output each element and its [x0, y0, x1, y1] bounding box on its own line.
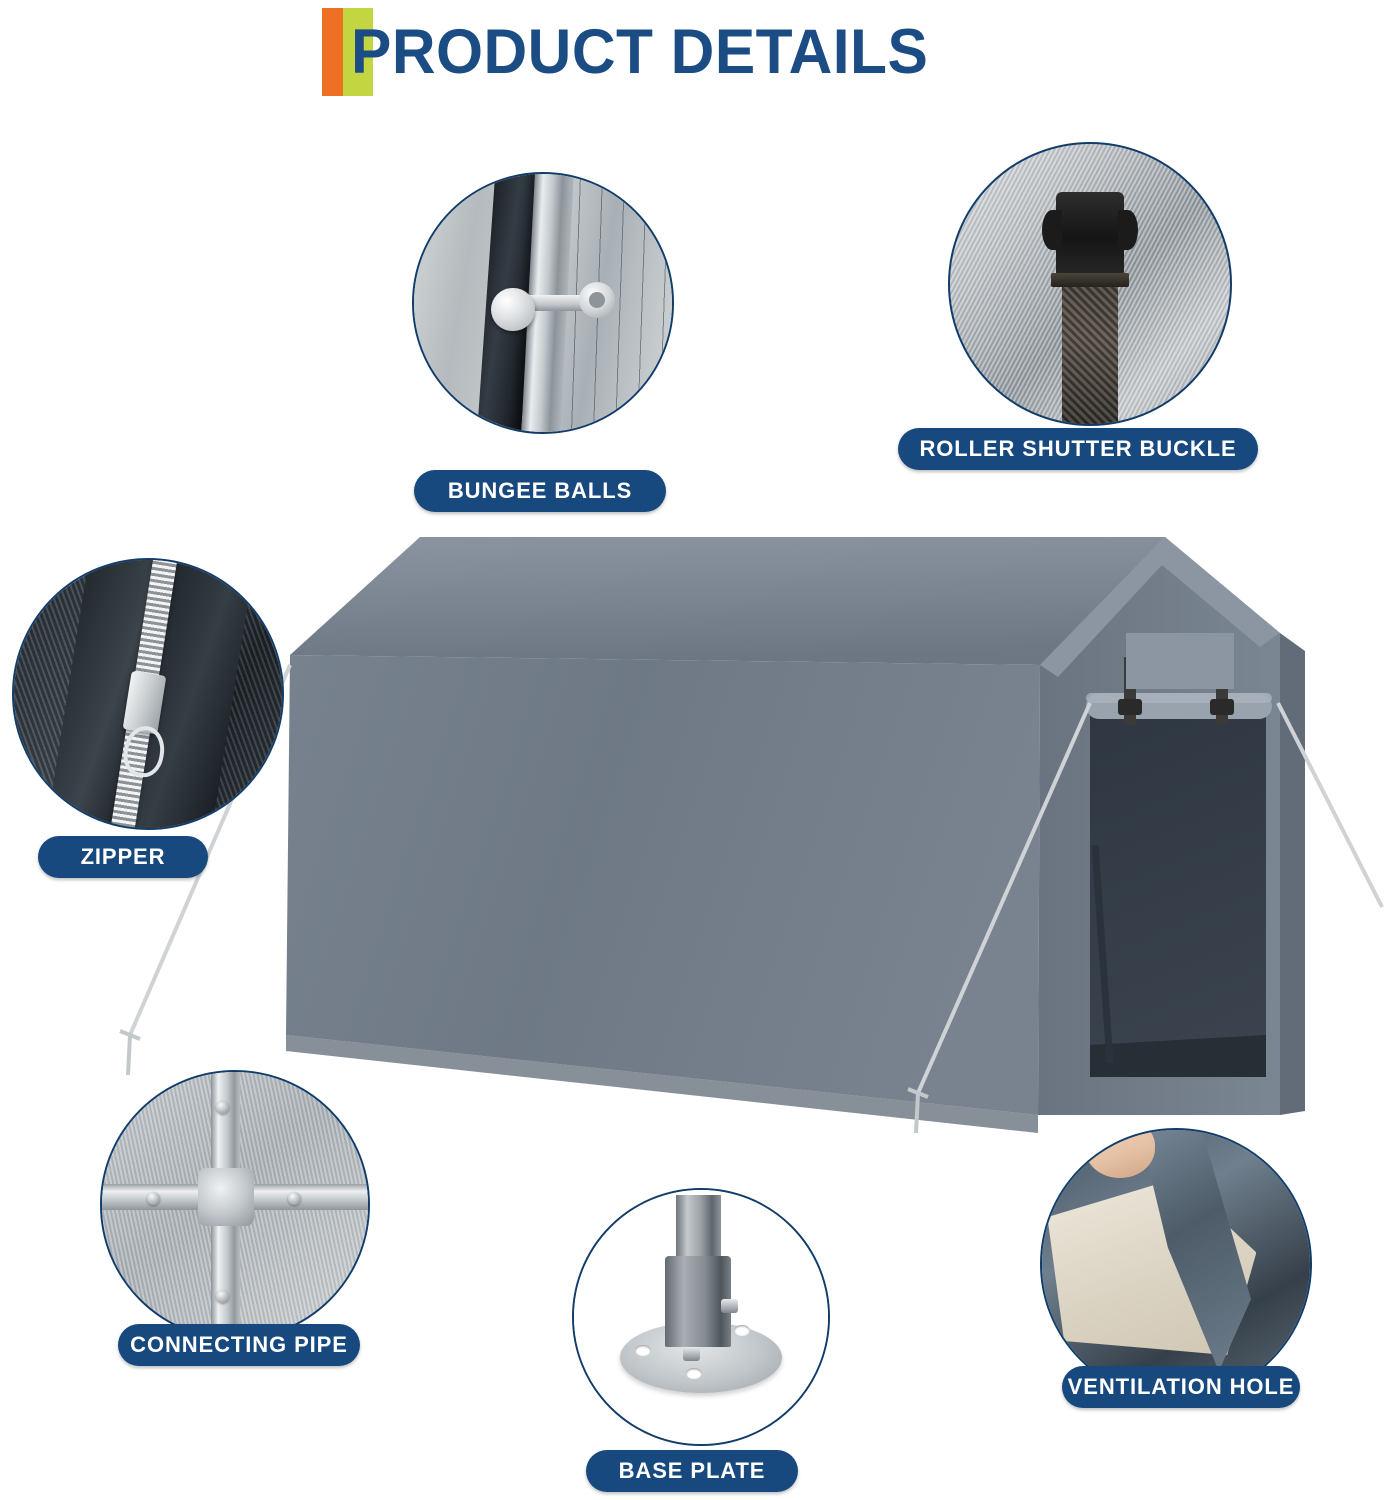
shed-side-wall — [286, 655, 1040, 1115]
detail-photo-bungee-balls — [412, 172, 674, 434]
buckle-adjuster-bar — [1051, 273, 1129, 287]
product-details-page: PRODUCT DETAILS — [0, 0, 1392, 1500]
shed-door-opening — [1090, 715, 1266, 1077]
callout-label-ventilation-hole: VENTILATION HOLE — [1062, 1366, 1300, 1408]
callout-label-roller-shutter-buckle: ROLLER SHUTTER BUCKLE — [898, 428, 1258, 470]
screw-left — [147, 1192, 160, 1205]
detail-photo-roller-shutter-buckle — [948, 142, 1232, 426]
detail-photo-zipper — [12, 558, 284, 830]
side-release-buckle — [1056, 192, 1123, 276]
cross-connector-hub — [198, 1168, 254, 1227]
sleeve-bolt-front — [683, 1347, 700, 1361]
door-buckle-left — [1118, 699, 1142, 715]
rolled-door-highlight — [1086, 693, 1272, 703]
page-title: PRODUCT DETAILS — [351, 8, 928, 96]
base-plate-scene — [574, 1190, 828, 1444]
callout-label-connecting-pipe: CONNECTING PIPE — [118, 1324, 360, 1366]
shed-right-edge — [1280, 633, 1305, 1115]
anchor-hole-left — [635, 1345, 651, 1356]
ventilation-scene — [1042, 1130, 1310, 1398]
shed-roof-panel — [290, 537, 1165, 665]
connecting-pipe-scene — [102, 1072, 368, 1338]
page-title-block: PRODUCT DETAILS — [322, 4, 952, 100]
ground-stake-rear — [120, 1031, 140, 1075]
callout-label-bungee-balls: BUNGEE BALLS — [414, 470, 666, 512]
detail-photo-base-plate — [572, 1188, 830, 1446]
shed-vent-panel — [1126, 633, 1234, 689]
sleeve-bolt-right — [721, 1299, 738, 1313]
callout-label-zipper: ZIPPER — [38, 836, 208, 878]
anchor-hole-right — [734, 1325, 750, 1336]
detail-photo-connecting-pipe — [100, 1070, 370, 1340]
title-accent-bar-orange — [322, 8, 343, 96]
door-buckle-right — [1210, 699, 1234, 715]
bungee-balls-scene — [414, 174, 672, 432]
anchor-hole-bottom — [686, 1368, 702, 1379]
detail-photo-ventilation-hole — [1040, 1128, 1312, 1400]
buckle-scene — [950, 144, 1230, 424]
callout-label-base-plate: BASE PLATE — [586, 1450, 798, 1492]
zipper-scene — [14, 560, 282, 828]
screw-right — [288, 1192, 301, 1205]
storage-shed-drawing — [90, 515, 1390, 1155]
